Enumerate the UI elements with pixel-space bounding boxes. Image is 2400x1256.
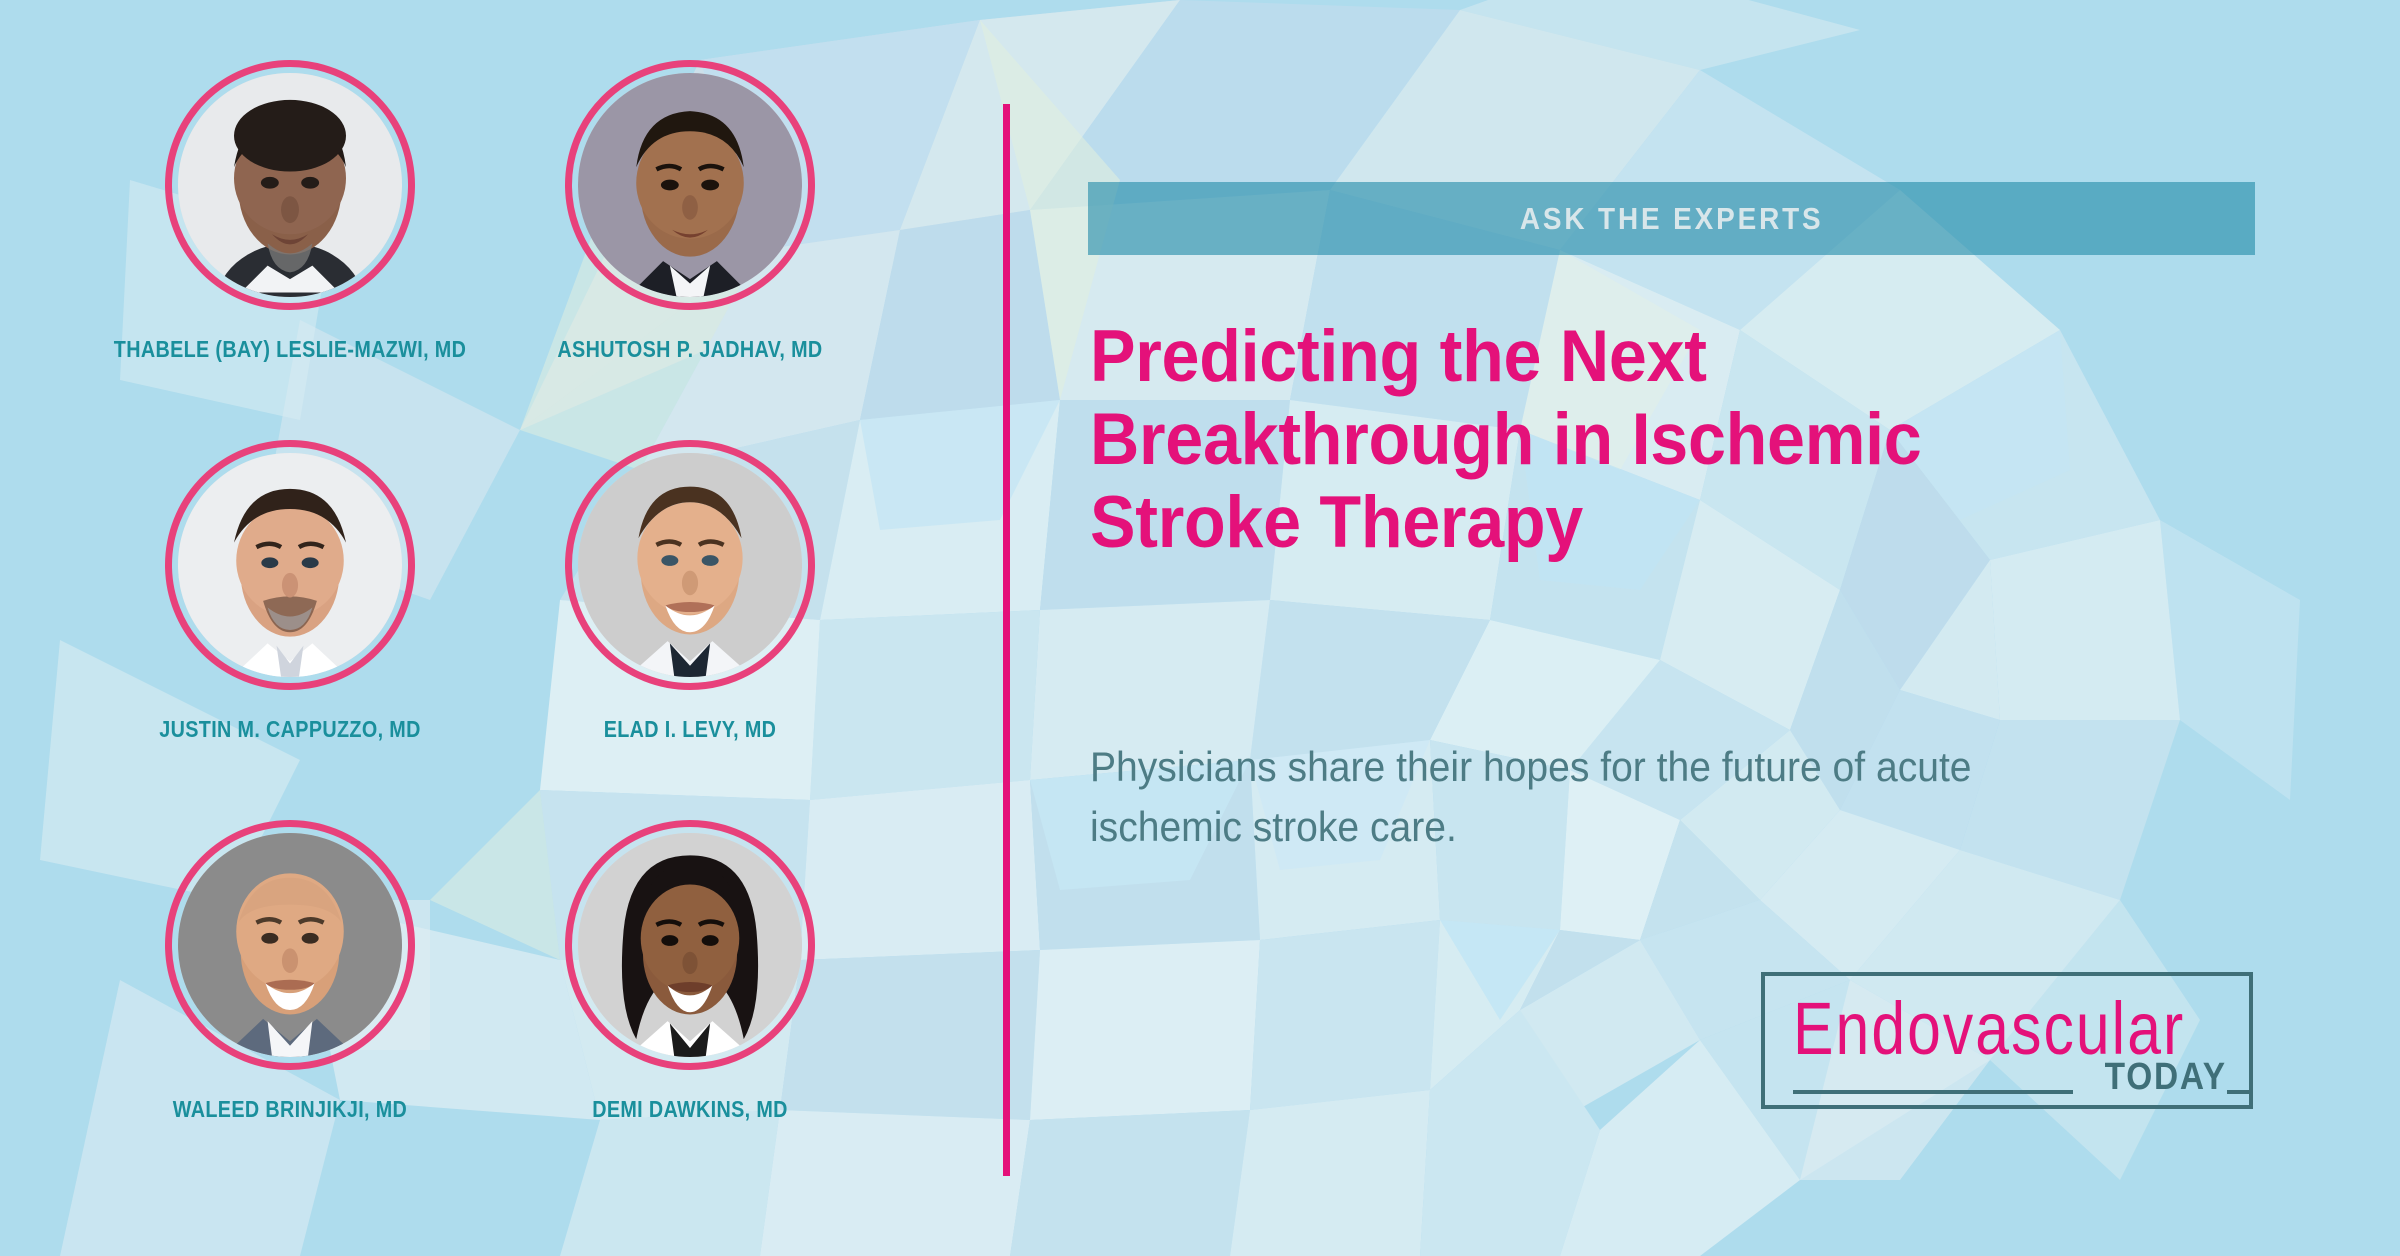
portrait-leslie-mazwi (178, 73, 402, 297)
eyebrow-banner: ASK THE EXPERTS (1088, 182, 2255, 255)
expert-name: WALEED BRINJIKJI, MD (101, 1096, 479, 1123)
experts-grid: THABELE (BAY) LESLIE-MAZWI, MD (70, 60, 950, 1200)
logo-tick (2227, 1090, 2253, 1094)
avatar (565, 440, 815, 690)
subtitle-line-2: ischemic stroke care. (1090, 797, 2076, 857)
expert-card[interactable]: JUSTIN M. CAPPUZZO, MD (70, 440, 510, 820)
headline-line-1: Predicting the Next (1090, 316, 2193, 399)
subtitle: Physicians share their hopes for the fut… (1090, 737, 2076, 856)
portrait-dawkins (578, 833, 802, 1057)
avatar (165, 820, 415, 1070)
vertical-divider (1003, 104, 1010, 1176)
eyebrow-label: ASK THE EXPERTS (1520, 201, 1824, 237)
logo-subword: TODAY (2105, 1056, 2227, 1099)
expert-card[interactable]: THABELE (BAY) LESLIE-MAZWI, MD (70, 60, 510, 440)
expert-card[interactable]: WALEED BRINJIKJI, MD (70, 820, 510, 1200)
expert-name: ASHUTOSH P. JADHAV, MD (501, 336, 879, 363)
logo-rule (1793, 1090, 2073, 1094)
page-title: Predicting the Next Breakthrough in Isch… (1090, 316, 2193, 565)
avatar (565, 60, 815, 310)
promo-graphic: THABELE (BAY) LESLIE-MAZWI, MD (0, 0, 2400, 1256)
headline-line-3: Stroke Therapy (1090, 482, 2193, 565)
expert-name: THABELE (BAY) LESLIE-MAZWI, MD (101, 336, 479, 363)
expert-name: JUSTIN M. CAPPUZZO, MD (101, 716, 479, 743)
portrait-levy (578, 453, 802, 677)
content-panel: ASK THE EXPERTS Predicting the Next Brea… (1088, 0, 2338, 1256)
subtitle-line-1: Physicians share their hopes for the fut… (1090, 737, 2076, 797)
portrait-cappuzzo (178, 453, 402, 677)
avatar (565, 820, 815, 1070)
expert-card[interactable]: DEMI DAWKINS, MD (470, 820, 910, 1200)
avatar (165, 440, 415, 690)
headline-line-2: Breakthrough in Ischemic (1090, 399, 2193, 482)
expert-name: ELAD I. LEVY, MD (501, 716, 879, 743)
portrait-jadhav (578, 73, 802, 297)
expert-card[interactable]: ASHUTOSH P. JADHAV, MD (470, 60, 910, 440)
portrait-brinjikji (178, 833, 402, 1057)
expert-card[interactable]: ELAD I. LEVY, MD (470, 440, 910, 820)
avatar (165, 60, 415, 310)
endovascular-today-logo[interactable]: Endovascular TODAY (1761, 972, 2253, 1109)
expert-name: DEMI DAWKINS, MD (501, 1096, 879, 1123)
